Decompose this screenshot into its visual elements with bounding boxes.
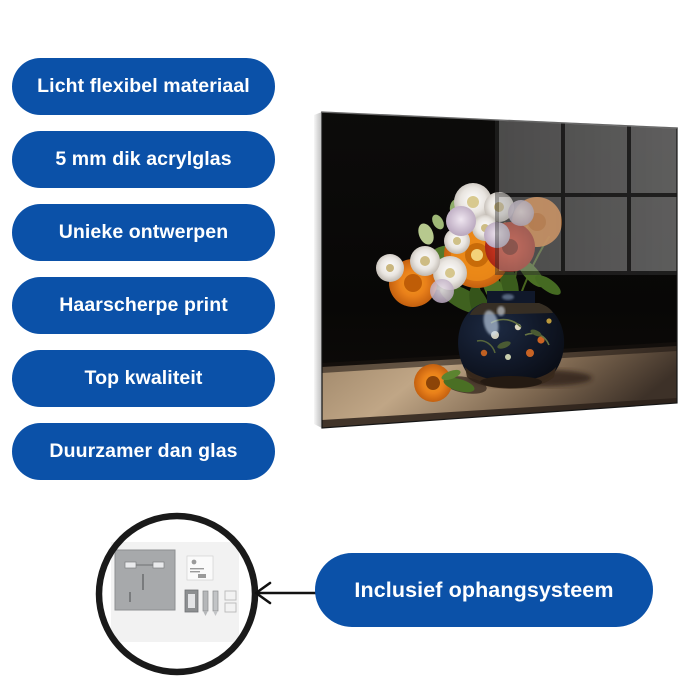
acrylic-edge-left xyxy=(314,112,322,428)
feature-pill-duurzamer-dan-glas[interactable]: Duurzamer dan glas xyxy=(12,423,275,480)
artwork-image xyxy=(305,95,695,445)
feature-pill-top-kwaliteit[interactable]: Top kwaliteit xyxy=(12,350,275,407)
feature-pill-haarscherpe-print[interactable]: Haarscherpe print xyxy=(12,277,275,334)
feature-pill-label: 5 mm dik acrylglas xyxy=(55,148,231,171)
mounting-hardware-illustration xyxy=(115,550,236,616)
feature-pill-licht-flexibel-materiaal[interactable]: Licht flexibel materiaal xyxy=(12,58,275,115)
feature-pill-label: Unieke ontwerpen xyxy=(59,221,229,244)
hanging-system-inset xyxy=(95,512,259,676)
acrylic-art-panel xyxy=(305,95,677,445)
window-reflection-overlay xyxy=(495,115,695,275)
hanging-system-pill[interactable]: Inclusief ophangsysteem xyxy=(315,553,653,627)
feature-pill-label: Top kwaliteit xyxy=(85,367,203,390)
product-feature-graphic: Licht flexibel materiaal 5 mm dik acrylg… xyxy=(0,0,700,700)
hanging-system-pill-label: Inclusief ophangsysteem xyxy=(354,578,613,603)
feature-pill-unieke-ontwerpen[interactable]: Unieke ontwerpen xyxy=(12,204,275,261)
feature-pill-label: Licht flexibel materiaal xyxy=(37,75,250,98)
feature-pill-label: Haarscherpe print xyxy=(59,294,228,317)
feature-pill-label: Duurzamer dan glas xyxy=(49,440,237,463)
feature-pill-5-mm-dik-acrylglas[interactable]: 5 mm dik acrylglas xyxy=(12,131,275,188)
